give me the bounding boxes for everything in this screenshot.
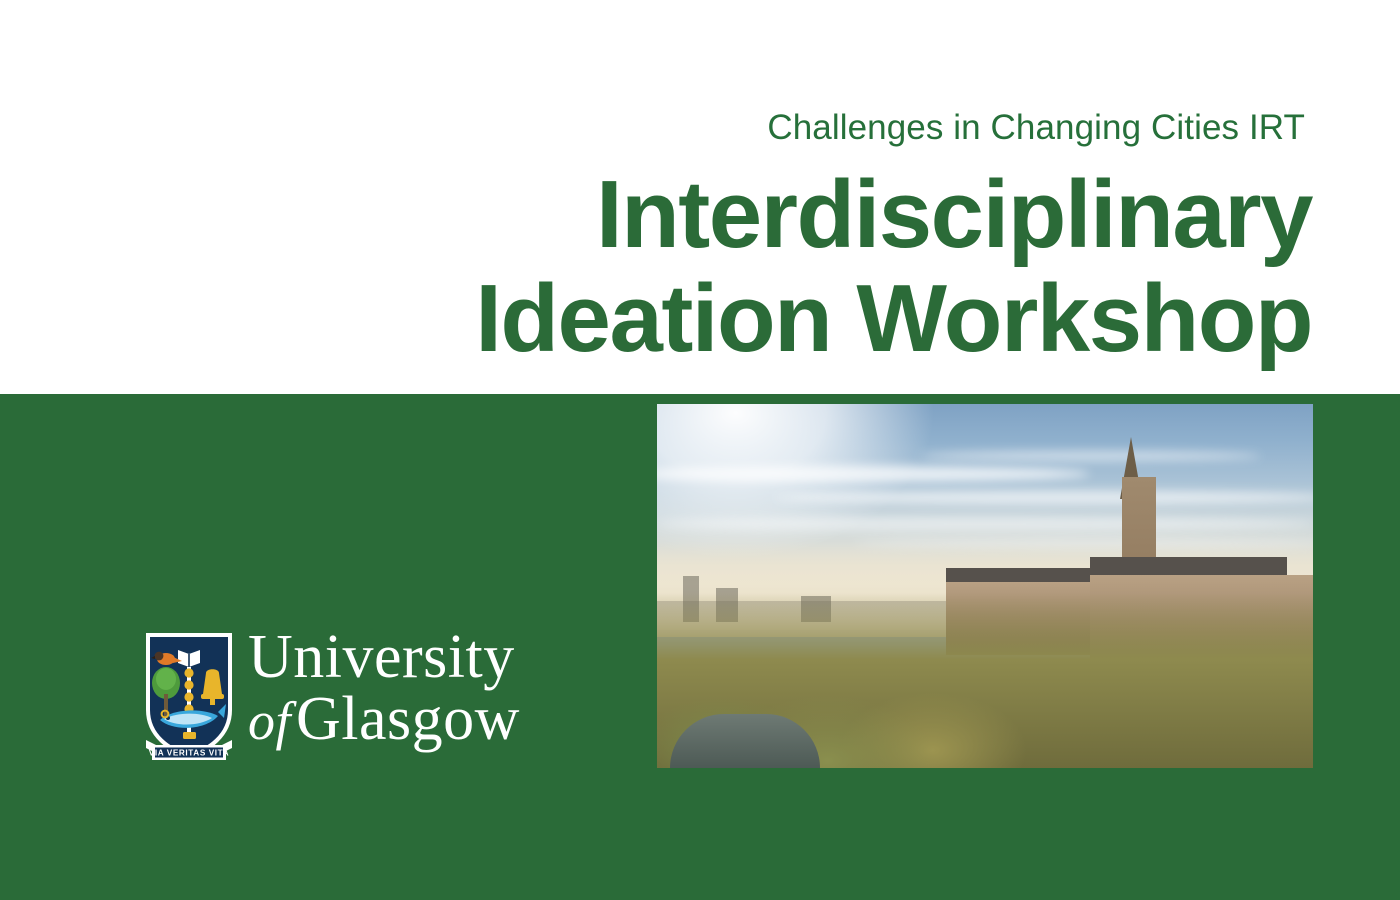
logo-word-university: University: [248, 628, 520, 688]
university-photo: [657, 404, 1313, 768]
title-band: Challenges in Changing Cities IRT Interd…: [0, 0, 1400, 394]
slide-eyebrow: Challenges in Changing Cities IRT: [767, 108, 1305, 148]
page-title-line-1: Interdisciplinary: [72, 163, 1312, 267]
page-title: Interdisciplinary Ideation Workshop: [72, 163, 1312, 371]
page-title-line-2: Ideation Workshop: [72, 267, 1312, 371]
university-logo: VIA VERITAS VITA University ofGlasgow: [144, 632, 564, 764]
logo-word-glasgow: Glasgow: [296, 685, 520, 753]
photo-roof: [1090, 557, 1287, 577]
logo-word-of: of: [248, 691, 296, 751]
logo-word-of-glasgow: ofGlasgow: [248, 690, 520, 750]
logo-wordmark: University ofGlasgow: [248, 628, 520, 749]
presentation-slide: Challenges in Changing Cities IRT Interd…: [0, 0, 1400, 900]
photo-cloud: [657, 466, 1090, 482]
crest-icon: VIA VERITAS VITA: [144, 632, 234, 764]
motto-text: VIA VERITAS VITA: [149, 748, 229, 757]
photo-cloud: [657, 517, 1313, 531]
